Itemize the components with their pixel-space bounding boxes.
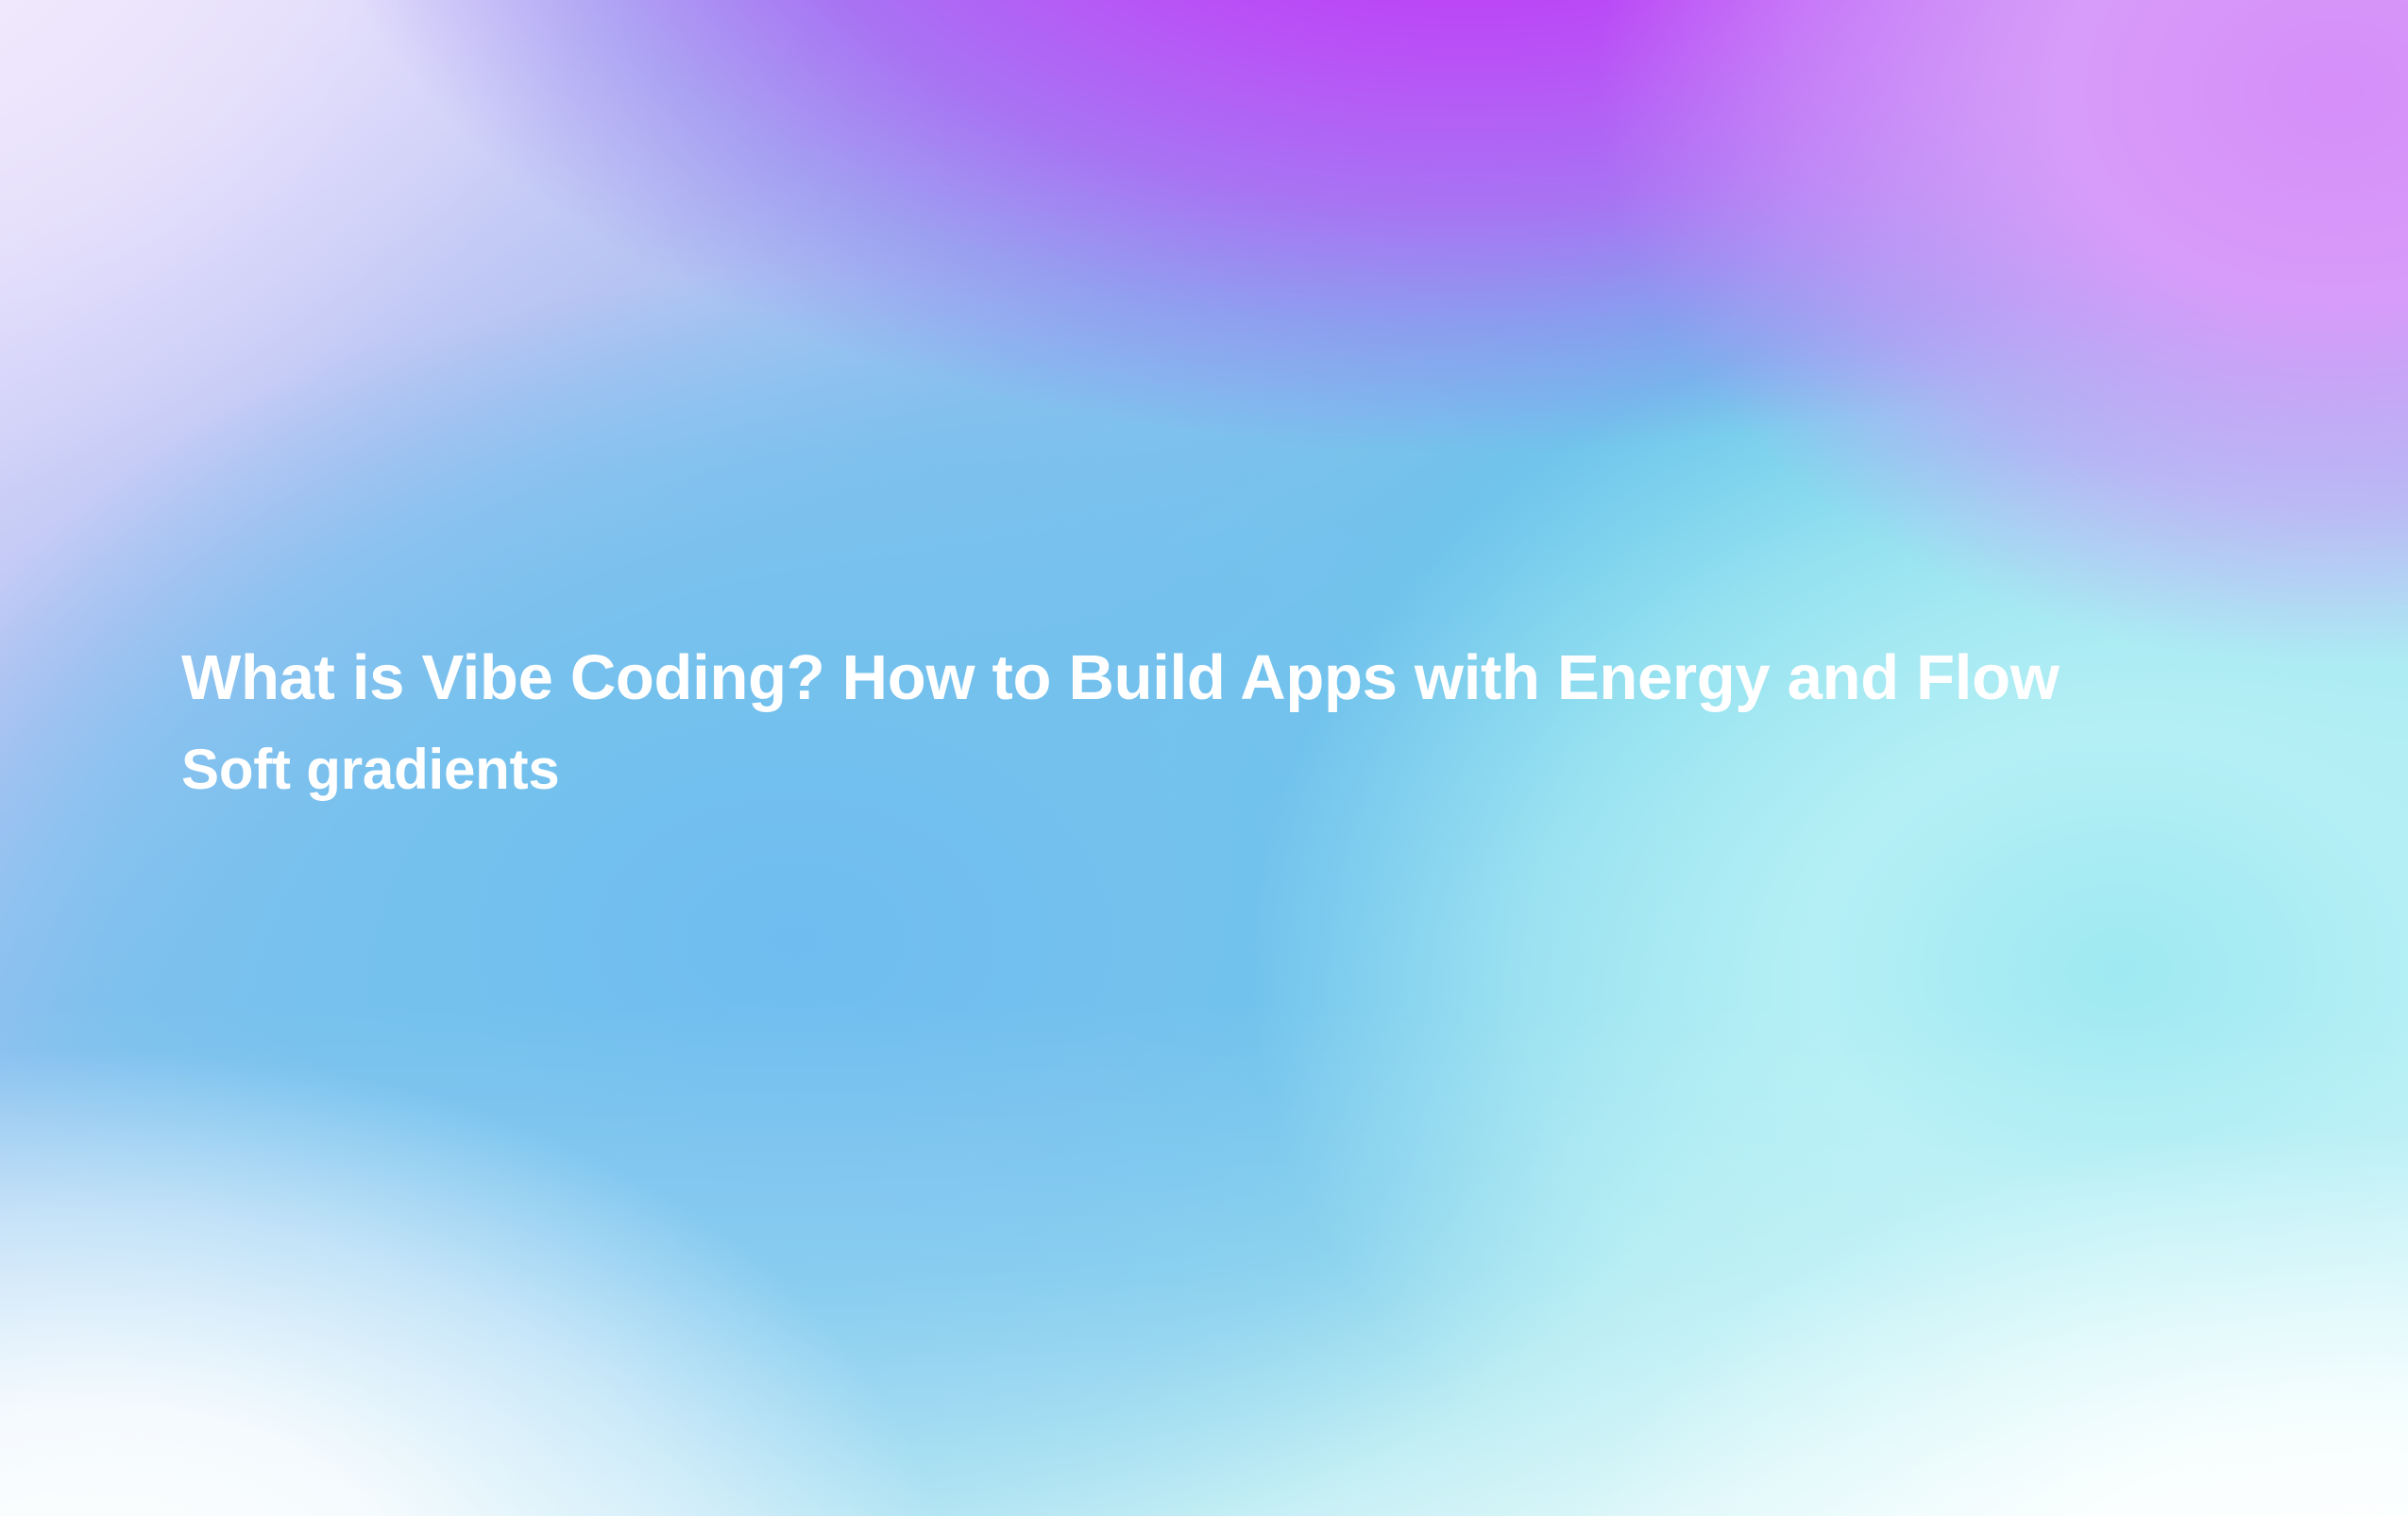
- hero-subtitle: Soft gradients: [181, 740, 2070, 801]
- hero-text-block: What is Vibe Coding? How to Build Apps w…: [181, 644, 2070, 801]
- gradient-hero-banner: What is Vibe Coding? How to Build Apps w…: [0, 0, 2408, 1516]
- hero-title: What is Vibe Coding? How to Build Apps w…: [181, 644, 2070, 711]
